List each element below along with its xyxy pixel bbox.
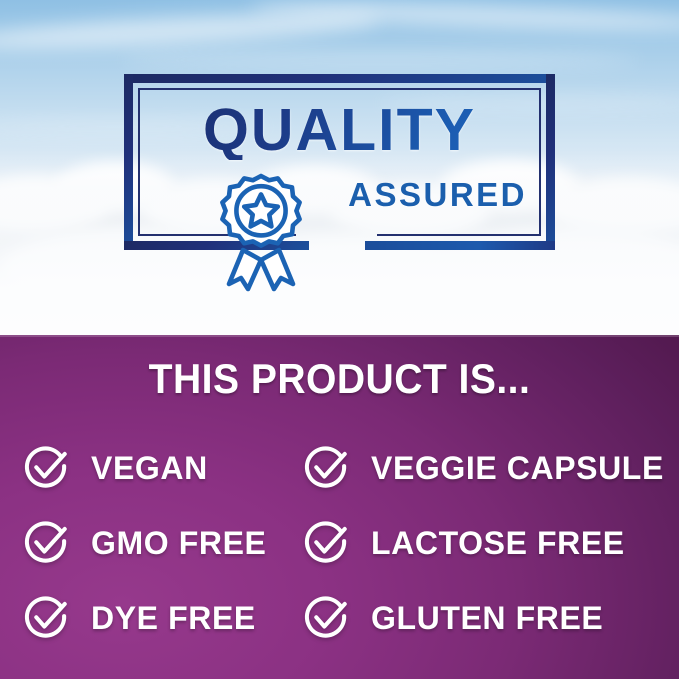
check-circle-icon [303, 444, 350, 491]
rosette-award-ribbon-icon [205, 168, 317, 294]
claim-label: DYE FREE [91, 601, 256, 635]
claim-item-vegan: VEGAN [0, 430, 292, 505]
product-claims-panel: THIS PRODUCT IS... VEGAN VEGGIE CAPSULE [0, 335, 679, 679]
claim-item-lactose-free: LACTOSE FREE [292, 505, 679, 580]
panel-heading: THIS PRODUCT IS... [24, 357, 655, 401]
claim-item-veggie-capsule: VEGGIE CAPSULE [292, 430, 679, 505]
panel-top-divider [0, 335, 679, 337]
claims-grid: VEGAN VEGGIE CAPSULE GMO FREE [0, 430, 679, 655]
claim-label: GMO FREE [91, 526, 266, 560]
check-circle-icon [23, 519, 70, 566]
badge-keyline-top [138, 88, 541, 90]
badge-title: QUALITY [124, 100, 555, 160]
badge-subtitle: ASSURED [348, 178, 527, 212]
badge-frame-bottom-edge-right [365, 241, 555, 250]
check-circle-icon [303, 519, 350, 566]
claim-item-dye-free: DYE FREE [0, 580, 292, 655]
check-circle-icon [23, 594, 70, 641]
claim-label: LACTOSE FREE [371, 526, 625, 560]
claim-label: VEGAN [91, 451, 208, 485]
product-claims-infographic: QUALITY ASSURED THIS PRODUCT IS... VEGA [0, 0, 679, 679]
claim-item-gluten-free: GLUTEN FREE [292, 580, 679, 655]
check-circle-icon [23, 444, 70, 491]
badge-keyline-bottom-right [377, 234, 541, 236]
claim-label: VEGGIE CAPSULE [371, 451, 664, 485]
claim-label: GLUTEN FREE [371, 601, 603, 635]
badge-frame-top-edge [124, 74, 555, 83]
check-circle-icon [303, 594, 350, 641]
quality-assured-badge: QUALITY ASSURED [124, 74, 555, 250]
claim-item-gmo-free: GMO FREE [0, 505, 292, 580]
cirrus-wisp [120, 52, 640, 68]
